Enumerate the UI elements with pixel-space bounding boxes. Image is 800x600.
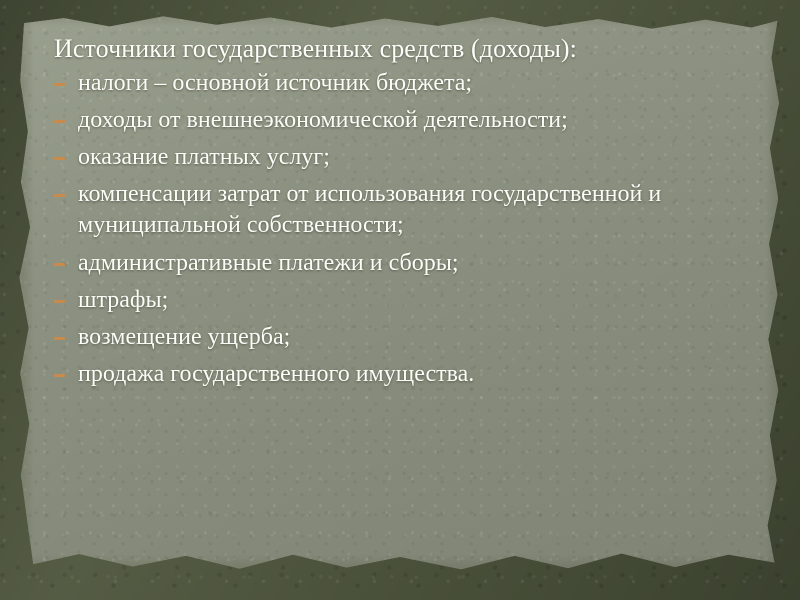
dash-bullet-icon [54,337,65,340]
list-item-label: компенсации затрат от использования госу… [78,181,661,238]
dash-bullet-icon [54,120,65,123]
slide-title: Источники государственных средств (доход… [48,34,760,65]
slide-content: Источники государственных средств (доход… [0,0,800,600]
dash-bullet-icon [54,374,65,377]
list-item-label: административные платежи и сборы; [78,250,459,276]
list-item-label: доходы от внешнеэкономической деятельнос… [78,107,568,133]
dash-bullet-icon [54,157,65,160]
list-item: компенсации затрат от использования госу… [48,179,718,241]
list-item: продажа государственного имущества. [48,359,718,390]
list-item: доходы от внешнеэкономической деятельнос… [48,105,718,136]
list-item: административные платежи и сборы; [48,248,718,279]
dash-bullet-icon [54,300,65,303]
dash-bullet-icon [54,263,65,266]
list-item: оказание платных услуг; [48,142,718,173]
dash-bullet-icon [54,83,65,86]
list-item-label: штрафы; [78,287,168,313]
presentation-slide: Источники государственных средств (доход… [0,0,800,600]
bullet-list: налоги – основной источник бюджета; дохо… [48,68,760,391]
dash-bullet-icon [54,194,65,197]
list-item-label: продажа государственного имущества. [78,361,474,387]
list-item: возмещение ущерба; [48,322,718,353]
list-item-label: оказание платных услуг; [78,144,330,170]
list-item: штрафы; [48,285,718,316]
list-item-label: налоги – основной источник бюджета; [78,70,472,96]
list-item-label: возмещение ущерба; [78,324,290,350]
list-item: налоги – основной источник бюджета; [48,68,718,99]
